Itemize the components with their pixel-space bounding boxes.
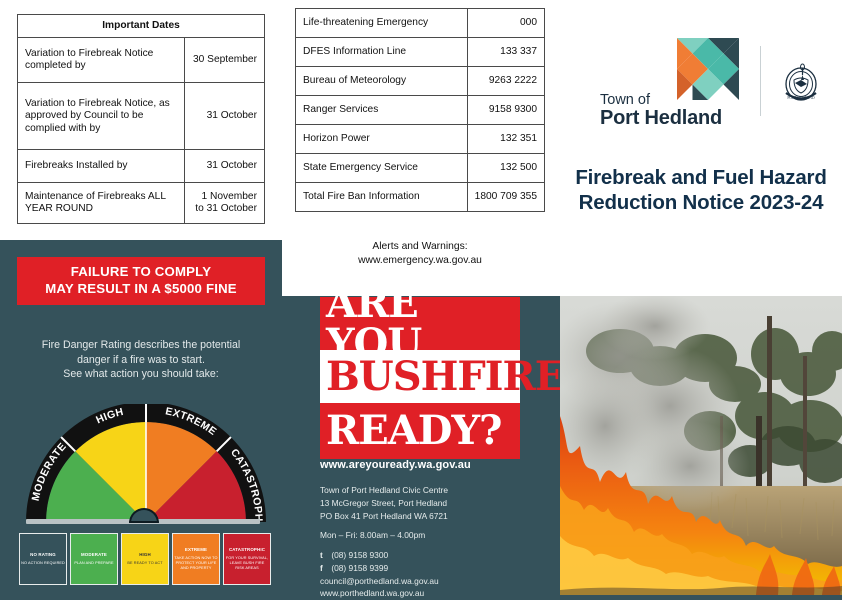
spacer: [320, 522, 550, 529]
council-phone[interactable]: (08) 9158 9300: [331, 550, 388, 560]
date-label: Variation to Firebreak Notice completed …: [18, 38, 185, 83]
are-you-bushfire-ready-banner: ARE YOU BUSHFIRE READY?: [320, 297, 520, 459]
fdr-intro-line-3: See what action you should take:: [12, 367, 270, 382]
table-row: Variation to Firebreak Notice, as approv…: [18, 83, 265, 150]
spacer: [320, 542, 550, 549]
legend-item-no-rating: NO RATING NO ACTION REQUIRED: [19, 533, 67, 585]
contact-label: Horizon Power: [296, 125, 468, 154]
table-row: DFES Information Line 133 337: [296, 38, 545, 67]
legend-title: MODERATE: [81, 552, 107, 558]
town-of-port-hedland-logo: Town of Port Hedland PORT HEDLAND: [600, 38, 830, 143]
contact-number: 000: [467, 9, 544, 38]
contact-label: DFES Information Line: [296, 38, 468, 67]
contact-number: 132 351: [467, 125, 544, 154]
table-row: Ranger Services 9158 9300: [296, 96, 545, 125]
legend-subtitle: PLAN AND PREPARE: [74, 561, 113, 566]
contact-number: 1800 709 355: [467, 183, 544, 212]
council-fax: (08) 9158 9399: [331, 563, 388, 573]
alerts-and-warnings: Alerts and Warnings: www.emergency.wa.go…: [295, 240, 545, 267]
council-phone-row: t (08) 9158 9300: [320, 549, 550, 562]
table-row: State Emergency Service 132 500: [296, 154, 545, 183]
table-row: Total Fire Ban Information 1800 709 355: [296, 183, 545, 212]
emergency-contacts-table: Life-threatening Emergency 000 DFES Info…: [295, 8, 545, 212]
table-row: Bureau of Meteorology 9263 2222: [296, 67, 545, 96]
fire-danger-legend: NO RATING NO ACTION REQUIRED MODERATE PL…: [19, 533, 271, 585]
council-postal: PO Box 41 Port Hedland WA 6721: [320, 510, 550, 523]
contact-label: Total Fire Ban Information: [296, 183, 468, 212]
legend-item-moderate: MODERATE PLAN AND PREPARE: [70, 533, 118, 585]
council-website[interactable]: www.porthedland.wa.gov.au: [320, 587, 550, 600]
legend-item-catastrophic: CATASTROPHIC FOR YOUR SURVIVAL, LEAVE BU…: [223, 533, 271, 585]
legend-item-high: HIGH BE READY TO ACT: [121, 533, 169, 585]
legend-subtitle: NO ACTION REQUIRED: [21, 561, 65, 566]
legend-subtitle: FOR YOUR SURVIVAL, LEAVE BUSH FIRE RISK …: [225, 556, 269, 571]
table-row: Variation to Firebreak Notice completed …: [18, 38, 265, 83]
legend-item-extreme: EXTREME TAKE ACTION NOW TO PROTECT YOUR …: [172, 533, 220, 585]
council-email[interactable]: council@porthedland.wa.gov.au: [320, 575, 550, 588]
legend-title: EXTREME: [185, 547, 207, 553]
council-fax-row: f (08) 9158 9399: [320, 562, 550, 575]
logo-line-1: Town of: [600, 93, 748, 108]
bfr-line-1: ARE YOU: [320, 297, 520, 350]
alerts-url[interactable]: www.emergency.wa.gov.au: [295, 254, 545, 268]
fine-warning-banner: FAILURE TO COMPLY MAY RESULT IN A $5000 …: [17, 257, 265, 305]
date-value: 31 October: [185, 83, 265, 150]
fire-danger-intro: Fire Danger Rating describes the potenti…: [12, 338, 270, 382]
legend-title: NO RATING: [30, 552, 56, 558]
contact-number: 9158 9300: [467, 96, 544, 125]
date-value: 31 October: [185, 150, 265, 183]
contact-number: 9263 2222: [467, 67, 544, 96]
table-row: Maintenance of Firebreaks ALL YEAR ROUND…: [18, 183, 265, 224]
contact-label: Life-threatening Emergency: [296, 9, 468, 38]
date-value: 30 September: [185, 38, 265, 83]
logo-line-2: Port Hedland: [600, 108, 748, 129]
date-label: Firebreaks Installed by: [18, 150, 185, 183]
phone-prefix: t: [320, 549, 329, 562]
date-label: Variation to Firebreak Notice, as approv…: [18, 83, 185, 150]
legend-subtitle: BE READY TO ACT: [127, 561, 162, 566]
council-name: Town of Port Hedland Civic Centre: [320, 484, 550, 497]
contact-label: Ranger Services: [296, 96, 468, 125]
table-row: Horizon Power 132 351: [296, 125, 545, 154]
table-row: Firebreaks Installed by 31 October: [18, 150, 265, 183]
council-street: 13 McGregor Street, Port Hedland: [320, 497, 550, 510]
important-dates-table: Important Dates Variation to Firebreak N…: [17, 14, 265, 224]
important-dates-heading: Important Dates: [18, 15, 265, 38]
legend-subtitle: TAKE ACTION NOW TO PROTECT YOUR LIFE AND…: [174, 556, 218, 571]
legend-title: CATASTROPHIC: [229, 547, 265, 553]
council-crest-icon: PORT HEDLAND: [780, 60, 822, 108]
brochure-page: Important Dates Variation to Firebreak N…: [0, 0, 842, 595]
fine-line-2: MAY RESULT IN A $5000 FINE: [45, 281, 237, 298]
chevron-mark-icon: [677, 38, 739, 100]
legend-title: HIGH: [139, 552, 151, 558]
bushfire-ready-url[interactable]: www.areyouready.wa.gov.au: [320, 459, 550, 471]
logo-wordmark: Town of Port Hedland: [600, 93, 748, 130]
contact-label: Bureau of Meteorology: [296, 67, 468, 96]
logo-divider: [760, 46, 761, 116]
fine-line-1: FAILURE TO COMPLY: [71, 264, 211, 281]
council-contact-details: Town of Port Hedland Civic Centre 13 McG…: [320, 484, 550, 600]
page-title: Firebreak and Fuel Hazard Reduction Noti…: [565, 165, 837, 215]
contact-number: 132 500: [467, 154, 544, 183]
contact-label: State Emergency Service: [296, 154, 468, 183]
council-hours: Mon – Fri: 8.00am – 4.00pm: [320, 529, 550, 542]
fax-prefix: f: [320, 562, 329, 575]
alerts-label: Alerts and Warnings:: [295, 240, 545, 254]
svg-text:PORT HEDLAND: PORT HEDLAND: [787, 96, 815, 100]
fdr-intro-line-2: danger if a fire was to start.: [12, 353, 270, 368]
fdr-intro-line-1: Fire Danger Rating describes the potenti…: [12, 338, 270, 353]
date-value: 1 November to 31 October: [185, 183, 265, 224]
contact-number: 133 337: [467, 38, 544, 67]
bfr-line-2: BUSHFIRE: [320, 350, 520, 403]
bfr-line-3: READY?: [320, 403, 520, 459]
date-label: Maintenance of Firebreaks ALL YEAR ROUND: [18, 183, 185, 224]
bushfire-photo: [560, 296, 842, 595]
table-row: Life-threatening Emergency 000: [296, 9, 545, 38]
